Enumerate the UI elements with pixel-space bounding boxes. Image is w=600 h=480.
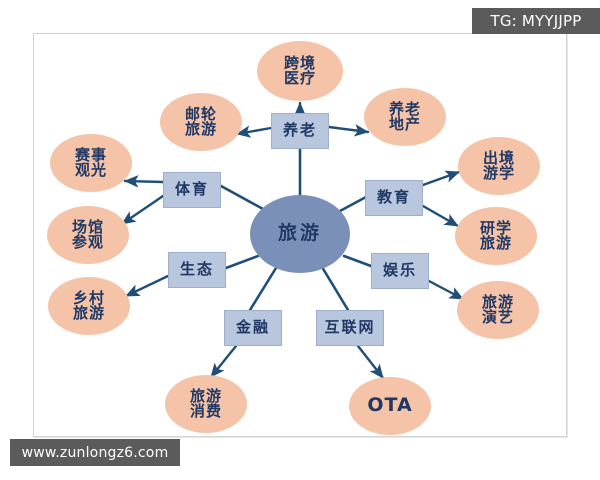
leaf-node-lvyou-yanyi[interactable]: 旅游 演艺: [457, 281, 539, 339]
leaf-node-kuajing-yiliao[interactable]: 跨境 医疗: [257, 41, 343, 101]
screenshot-root: 跨境 医疗邮轮 旅游养老 地产赛事 观光场馆 参观乡村 旅游旅游 消费OTA旅游…: [0, 0, 600, 480]
leaf-node-yanglao-dichan[interactable]: 养老 地产: [364, 88, 446, 146]
watermark-bottom-left: www.zunlongz6.com: [10, 439, 180, 466]
leaf-node-youlun-lvyou[interactable]: 邮轮 旅游: [160, 93, 242, 151]
branch-node-jinrong[interactable]: 金融: [224, 310, 282, 346]
branch-node-yanglao[interactable]: 养老: [271, 113, 329, 149]
leaf-node-chujing-youxue[interactable]: 出境 游学: [458, 137, 540, 195]
leaf-node-saishi-guanguang[interactable]: 赛事 观光: [50, 134, 132, 192]
branch-node-tiyu[interactable]: 体育: [163, 172, 221, 208]
leaf-node-changguan-canguan[interactable]: 场馆 参观: [47, 206, 129, 264]
branch-node-yule[interactable]: 娱乐: [371, 253, 429, 289]
leaf-node-xiangcun-lvyou[interactable]: 乡村 旅游: [48, 277, 130, 335]
watermark-top-right: TG: MYYJJPP: [472, 8, 600, 34]
branch-node-jiaoyu[interactable]: 教育: [365, 180, 423, 216]
leaf-node-ota[interactable]: OTA: [349, 377, 431, 435]
leaf-node-lvyou-xiaofei[interactable]: 旅游 消费: [165, 375, 247, 433]
leaf-node-yanxue-lvyou[interactable]: 研学 旅游: [455, 207, 537, 265]
branch-node-shengtai[interactable]: 生态: [168, 252, 226, 288]
hub-node-lvyou[interactable]: 旅游: [250, 195, 350, 273]
branch-node-hulianwang[interactable]: 互联网: [316, 310, 384, 346]
